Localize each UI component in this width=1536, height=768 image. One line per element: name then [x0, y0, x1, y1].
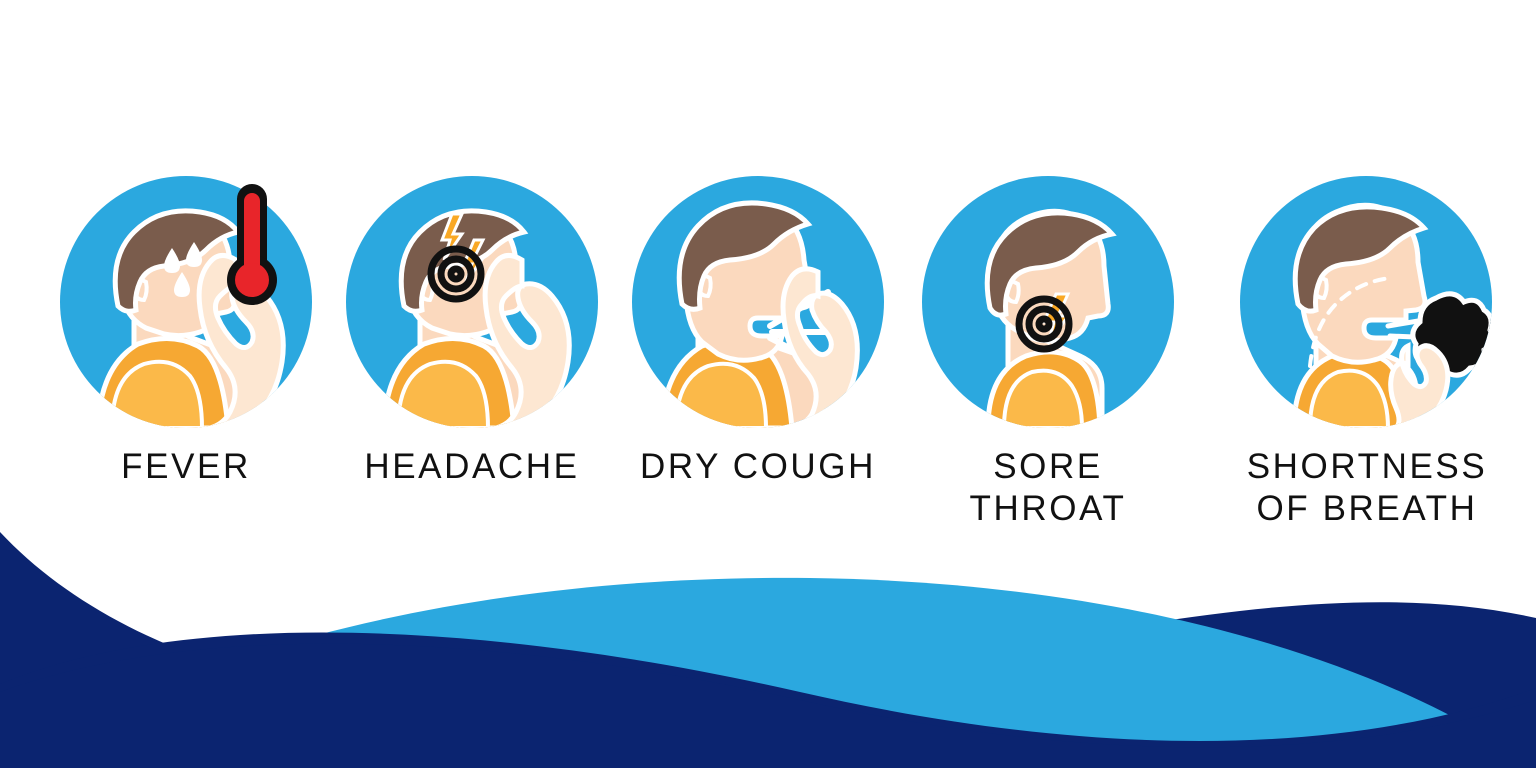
infographic-poster: FEVER — [0, 0, 1536, 768]
raised-hand-arm — [1391, 346, 1448, 428]
bottom-wave-decoration — [0, 532, 1536, 768]
symptom-card-dry-cough[interactable]: DRY COUGH — [632, 176, 884, 488]
symptom-card-shortness-of-breath[interactable]: SHORTNESS OF BREATH — [1222, 176, 1474, 530]
headache-icon — [346, 176, 598, 428]
sore-throat-icon — [922, 176, 1174, 428]
symptom-label-sore-throat: SORE THROAT — [922, 446, 1174, 530]
symptom-row: FEVER — [0, 0, 1536, 560]
shortness-of-breath-icon — [1240, 176, 1492, 428]
symptom-card-sore-throat[interactable]: SORE THROAT — [922, 176, 1174, 530]
fever-icon — [60, 176, 312, 428]
symptom-label-headache: HEADACHE — [346, 446, 598, 488]
symptom-card-fever[interactable]: FEVER — [60, 176, 312, 488]
symptom-card-headache[interactable]: HEADACHE — [346, 176, 598, 488]
dry-cough-icon — [632, 176, 884, 428]
symptom-label-shortness-of-breath: SHORTNESS OF BREATH — [1222, 446, 1512, 530]
symptom-label-dry-cough: DRY COUGH — [632, 446, 884, 488]
symptom-label-fever: FEVER — [60, 446, 312, 488]
